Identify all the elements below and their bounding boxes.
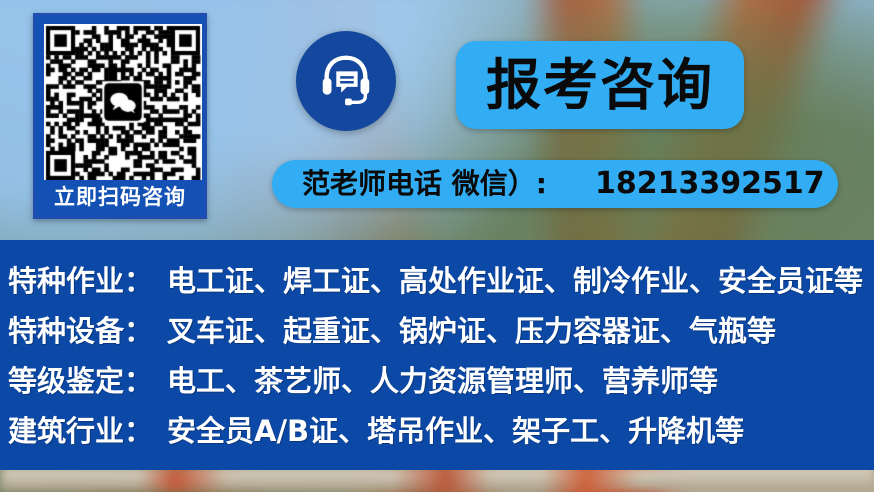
- qr-code-image-wrapper: [44, 24, 202, 180]
- category-items: 叉车证、起重证、锅炉证、压力容器证、气瓶等: [167, 308, 776, 350]
- category-name: 等级鉴定：: [8, 358, 153, 400]
- category-row-3: 建筑行业： 安全员A/B证、塔吊作业、架子工、升降机等: [0, 408, 874, 458]
- qr-code-card[interactable]: 立即扫码咨询: [33, 13, 207, 219]
- category-items: 电工、茶艺师、人力资源管理师、营养师等: [167, 358, 718, 400]
- category-name: 特种作业：: [8, 258, 153, 300]
- category-items: 电工证、焊工证、高处作业证、制冷作业、安全员证等: [167, 258, 863, 300]
- qr-caption: 立即扫码咨询: [36, 182, 204, 212]
- category-row-0: 特种作业： 电工证、焊工证、高处作业证、制冷作业、安全员证等: [0, 258, 874, 308]
- headset-support-icon: [296, 31, 396, 131]
- contact-pill[interactable]: 范老师电话 微信）: 18213392517: [272, 160, 838, 208]
- category-name: 特种设备：: [8, 308, 153, 350]
- category-name: 建筑行业：: [8, 408, 153, 450]
- wechat-qr-code-icon: [44, 24, 202, 180]
- promo-banner: 立即扫码咨询 报考咨询 范老师电话 微信）: 18213392517 特种作业：…: [0, 0, 874, 492]
- contact-phone-number: 18213392517: [595, 169, 825, 199]
- contact-label: 范老师电话 微信）:: [302, 170, 547, 198]
- headline-pill: 报考咨询: [456, 41, 744, 129]
- category-row-1: 特种设备： 叉车证、起重证、锅炉证、压力容器证、气瓶等: [0, 308, 874, 358]
- category-panel: 特种作业： 电工证、焊工证、高处作业证、制冷作业、安全员证等 特种设备： 叉车证…: [0, 240, 874, 470]
- category-items: 安全员A/B证、塔吊作业、架子工、升降机等: [167, 408, 744, 450]
- category-row-2: 等级鉴定： 电工、茶艺师、人力资源管理师、营养师等: [0, 358, 874, 408]
- headset-icon-glyph: [315, 50, 377, 112]
- headline-text: 报考咨询: [486, 58, 714, 113]
